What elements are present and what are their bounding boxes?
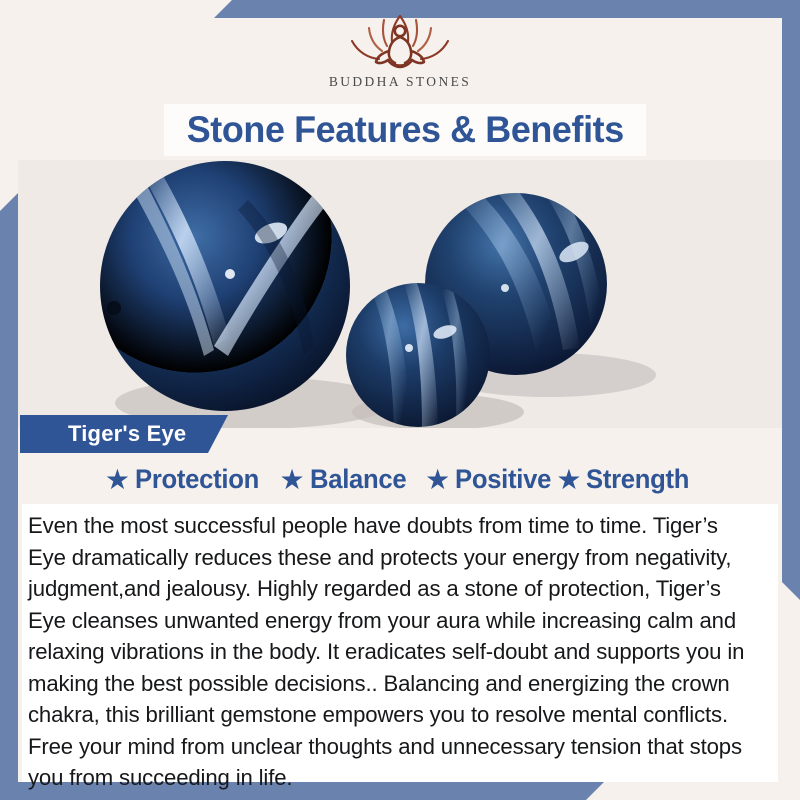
benefit-label: Strength [586, 464, 689, 495]
benefit-label: Positive [455, 464, 551, 495]
stone-name-label: Tiger's Eye [68, 421, 186, 447]
benefit-item: ★ Strength [556, 464, 695, 495]
title-banner: Stone Features & Benefits [164, 104, 646, 156]
brand-wordmark: BUDDHA STONES [329, 74, 471, 90]
page-title: Stone Features & Benefits [186, 109, 623, 151]
page-body: BUDDHA STONES Stone Features & Benefits [0, 0, 800, 800]
benefit-item: ★ Positive [425, 464, 556, 495]
star-icon: ★ [105, 466, 130, 494]
description-text: Even the most successful people have dou… [28, 510, 757, 794]
benefit-item: ★ Balance [280, 464, 412, 495]
benefit-item: ★ Protection [105, 464, 266, 495]
brand-logo: BUDDHA STONES [0, 8, 800, 104]
star-icon: ★ [425, 466, 450, 494]
description-block: Even the most successful people have dou… [22, 504, 778, 782]
lotus-meditation-figure-icon [334, 8, 466, 76]
benefit-label: Protection [135, 464, 259, 495]
star-icon: ★ [556, 466, 581, 494]
benefits-row: ★ Protection ★ Balance ★ Positive ★ Stre… [0, 464, 800, 495]
stone-benefits-infographic: BUDDHA STONES Stone Features & Benefits [0, 0, 800, 800]
stone-name-tag: Tiger's Eye [20, 415, 228, 453]
hero-stone-image [18, 160, 782, 428]
stone-spheres-illustration [18, 160, 782, 428]
benefit-label: Balance [310, 464, 406, 495]
star-icon: ★ [280, 466, 305, 494]
